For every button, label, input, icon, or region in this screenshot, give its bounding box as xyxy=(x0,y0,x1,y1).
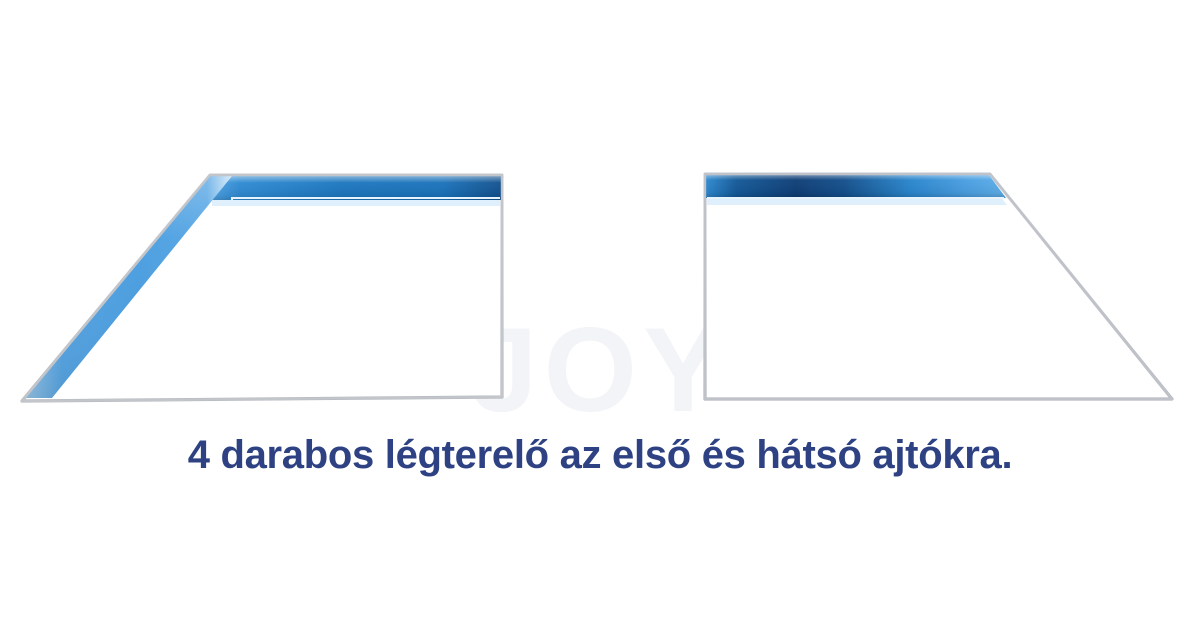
rear-top-tint-shading xyxy=(706,175,1006,198)
panel-rear-door-deflector xyxy=(705,174,1172,399)
rear-panel-body xyxy=(705,174,1172,399)
panel-front-door-deflector xyxy=(22,175,502,401)
front-top-tint-shading xyxy=(210,176,501,200)
product-image-canvas: JOY xyxy=(0,0,1200,630)
wind-deflector-illustration xyxy=(0,0,1200,630)
front-panel-body xyxy=(22,175,502,401)
